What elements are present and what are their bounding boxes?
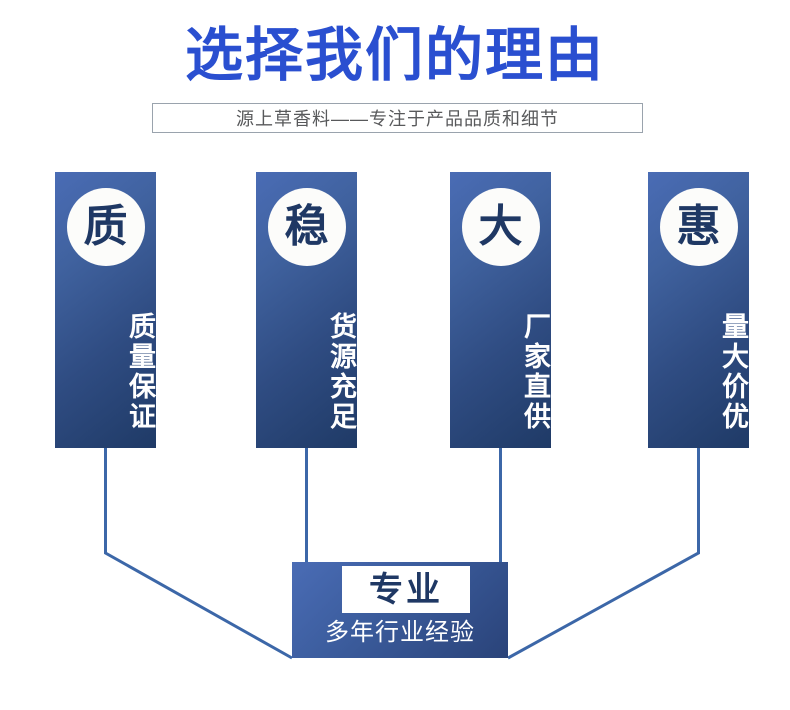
feature-card-supply[interactable]: 稳 货源充足 (256, 172, 357, 448)
infographic-canvas: 选择我们的理由 源上草香料——专注于产品品质和细节 质 质量保证 稳 货源充足 … (0, 0, 790, 710)
feature-card-label: 货源充足 (256, 292, 357, 452)
badge-char: 惠 (677, 205, 721, 249)
summary-subline: 多年行业经验 (292, 618, 508, 648)
summary-box[interactable]: 专业 多年行业经验 (292, 562, 508, 658)
badge-circle-icon: 大 (462, 188, 540, 266)
feature-card-label: 量大价优 (648, 292, 749, 452)
summary-headline: 专业 (369, 573, 443, 607)
feature-card-label: 厂家直供 (450, 292, 551, 452)
badge-char: 质 (84, 205, 128, 249)
feature-card-factory[interactable]: 大 厂家直供 (450, 172, 551, 448)
feature-card-price[interactable]: 惠 量大价优 (648, 172, 749, 448)
subtitle-text: 源上草香料——专注于产品品质和细节 (236, 105, 559, 131)
feature-card-quality[interactable]: 质 质量保证 (55, 172, 156, 448)
badge-char: 稳 (285, 205, 329, 249)
badge-circle-icon: 稳 (268, 188, 346, 266)
page-title: 选择我们的理由 (0, 24, 790, 88)
summary-headline-plate: 专业 (342, 566, 470, 613)
badge-circle-icon: 惠 (660, 188, 738, 266)
badge-circle-icon: 质 (67, 188, 145, 266)
subtitle-box: 源上草香料——专注于产品品质和细节 (152, 103, 643, 133)
badge-char: 大 (479, 205, 523, 249)
feature-card-label: 质量保证 (55, 292, 156, 452)
